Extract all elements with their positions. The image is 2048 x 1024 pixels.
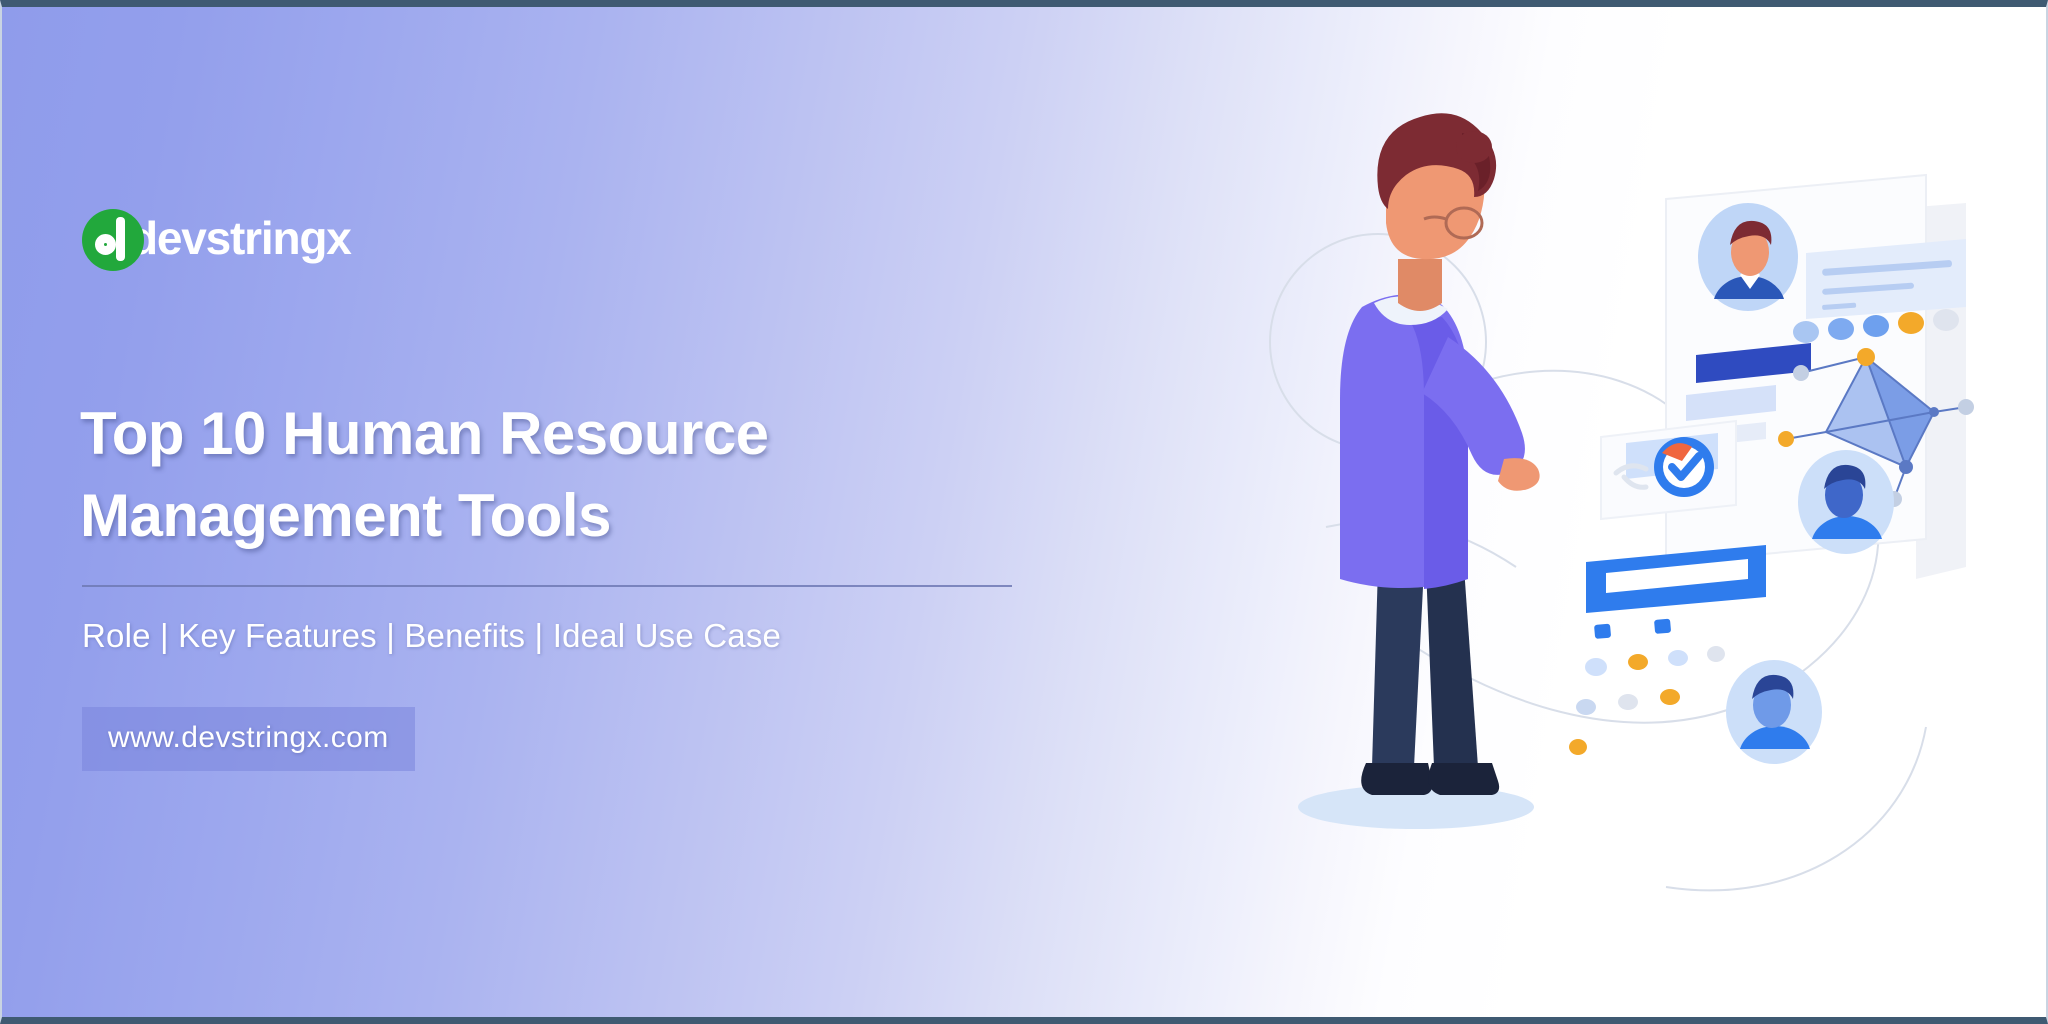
search-bar-card	[1586, 545, 1766, 613]
person-figure	[1298, 113, 1540, 829]
page-title-line-2: Management Tools	[80, 475, 1010, 557]
hr-management-illustration	[1266, 7, 2046, 1017]
panel-text-card	[1806, 239, 1966, 319]
hr-tools-banner: devstringx Top 10 Human Resource Managem…	[0, 0, 2048, 1024]
logo-wordmark: devstringx	[130, 215, 351, 265]
title-divider	[82, 585, 1012, 587]
avatar-badge-3	[1726, 660, 1822, 764]
avatar-badge-1	[1698, 203, 1798, 311]
page-title-line-1: Top 10 Human Resource	[80, 400, 769, 467]
banner-left-content: devstringx Top 10 Human Resource Managem…	[80, 7, 1040, 1017]
devstringx-logo[interactable]: devstringx	[82, 207, 351, 273]
dots-matrix	[1569, 619, 1725, 755]
website-url-chip[interactable]: www.devstringx.com	[82, 707, 415, 771]
subtitle-text: Role | Key Features | Benefits | Ideal U…	[82, 617, 781, 655]
page-title: Top 10 Human Resource Management Tools	[80, 393, 1010, 556]
devstringx-d-mark-icon	[82, 209, 144, 271]
avatar-badge-2	[1798, 450, 1894, 554]
check-badge-icon	[1654, 437, 1714, 497]
